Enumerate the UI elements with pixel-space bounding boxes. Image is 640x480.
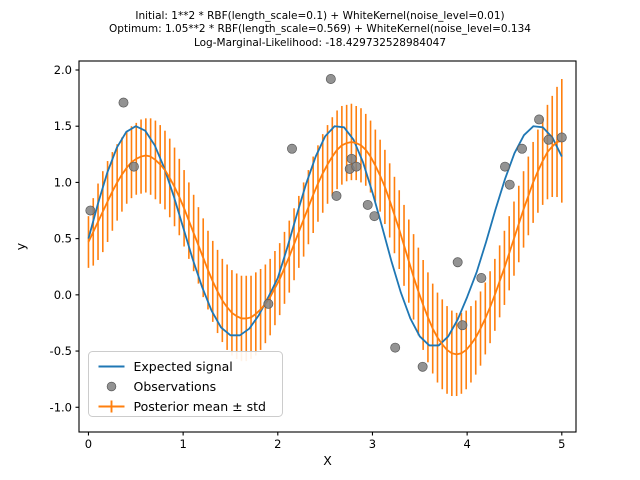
y-tick-label: 2.0: [54, 63, 72, 77]
observation-point: [363, 200, 372, 209]
x-tick-label: 3: [369, 437, 376, 451]
y-tick-label: 0.5: [54, 232, 72, 246]
legend-label: Observations: [134, 379, 217, 394]
y-tick-label: -1.0: [50, 400, 72, 414]
x-tick-label: 1: [179, 437, 186, 451]
figure-canvas: Initial: 1**2 * RBF(length_scale=0.1) + …: [0, 0, 640, 480]
legend-dot-swatch: [107, 382, 116, 391]
x-axis-label: X: [323, 453, 332, 468]
y-tick-label: -0.5: [50, 344, 72, 358]
y-tick-label: 1.0: [54, 175, 72, 189]
observation-point: [534, 115, 543, 124]
observation-point: [477, 273, 486, 282]
posterior-errorbars: [88, 79, 561, 396]
y-tick-label: 0.0: [54, 288, 72, 302]
y-tick-label: 1.5: [54, 119, 72, 133]
observation-point: [332, 191, 341, 200]
legend-label: Posterior mean ± std: [134, 399, 266, 414]
chart-legend[interactable]: Expected signalObservationsPosterior mea…: [89, 352, 283, 417]
x-tick-label: 0: [85, 437, 92, 451]
observation-point: [119, 98, 128, 107]
observation-point: [458, 321, 467, 330]
x-tick-label: 2: [274, 437, 281, 451]
observation-point: [326, 74, 335, 83]
observation-point: [500, 162, 509, 171]
observation-point: [557, 133, 566, 142]
observation-point: [86, 206, 95, 215]
observation-point: [544, 135, 553, 144]
chart-svg: 012345-1.0-0.50.00.51.01.52.0 Expected s…: [0, 0, 640, 480]
observation-point: [391, 343, 400, 352]
legend-label: Expected signal: [134, 359, 233, 374]
observation-point: [517, 144, 526, 153]
observation-point: [129, 162, 138, 171]
x-tick-label: 4: [463, 437, 470, 451]
x-tick-label: 5: [558, 437, 565, 451]
observation-point: [418, 362, 427, 371]
observation-point: [264, 299, 273, 308]
observation-point: [453, 258, 462, 267]
observation-point: [505, 180, 514, 189]
observation-point: [352, 162, 361, 171]
observation-point: [370, 212, 379, 221]
y-axis-label: y: [13, 242, 28, 250]
observation-point: [287, 144, 296, 153]
